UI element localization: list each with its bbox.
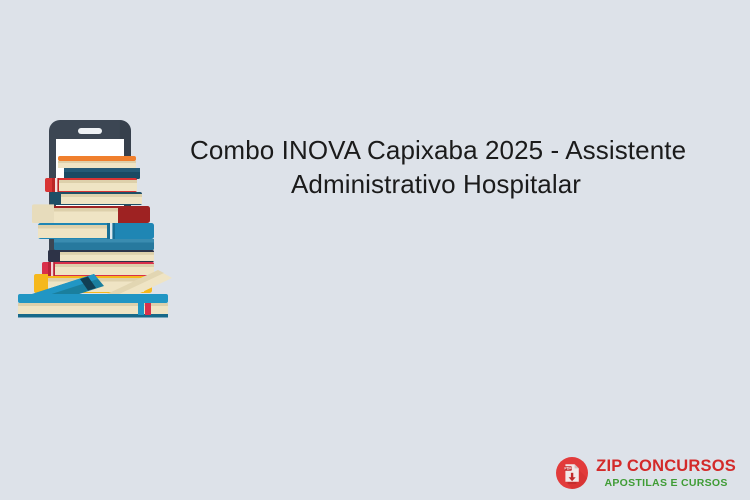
book-orange-top (58, 156, 136, 168)
book-darkred (32, 204, 150, 223)
svg-text:PDF: PDF (565, 467, 573, 471)
page-title-line-2: Administrativo Hospitalar (190, 167, 682, 201)
book-navy-2 (50, 192, 142, 205)
page-title-line-1: Combo INOVA Capixaba 2025 - Assistente (190, 133, 682, 167)
pdf-download-icon: PDF (555, 456, 589, 490)
book-red-1 (45, 178, 137, 192)
brand-logo[interactable]: PDF ZIP CONCURSOS APOSTILAS E CURSOS (555, 456, 736, 490)
brand-tagline: APOSTILAS E CURSOS (604, 478, 727, 489)
book-blue-1 (38, 223, 154, 239)
brand-text: ZIP CONCURSOS APOSTILAS E CURSOS (596, 458, 736, 488)
promo-banner: Combo INOVA Capixaba 2025 - Assistente A… (0, 0, 750, 500)
page-title: Combo INOVA Capixaba 2025 - Assistente A… (190, 133, 682, 201)
brand-name: ZIP CONCURSOS (596, 458, 736, 475)
book-navy-1 (64, 168, 140, 179)
book-bottom-teal (18, 294, 168, 318)
book-blue-2 (54, 239, 154, 250)
book-pinkred (42, 262, 154, 276)
book-stack-illustration (8, 118, 178, 318)
book-charcoal (48, 250, 154, 262)
